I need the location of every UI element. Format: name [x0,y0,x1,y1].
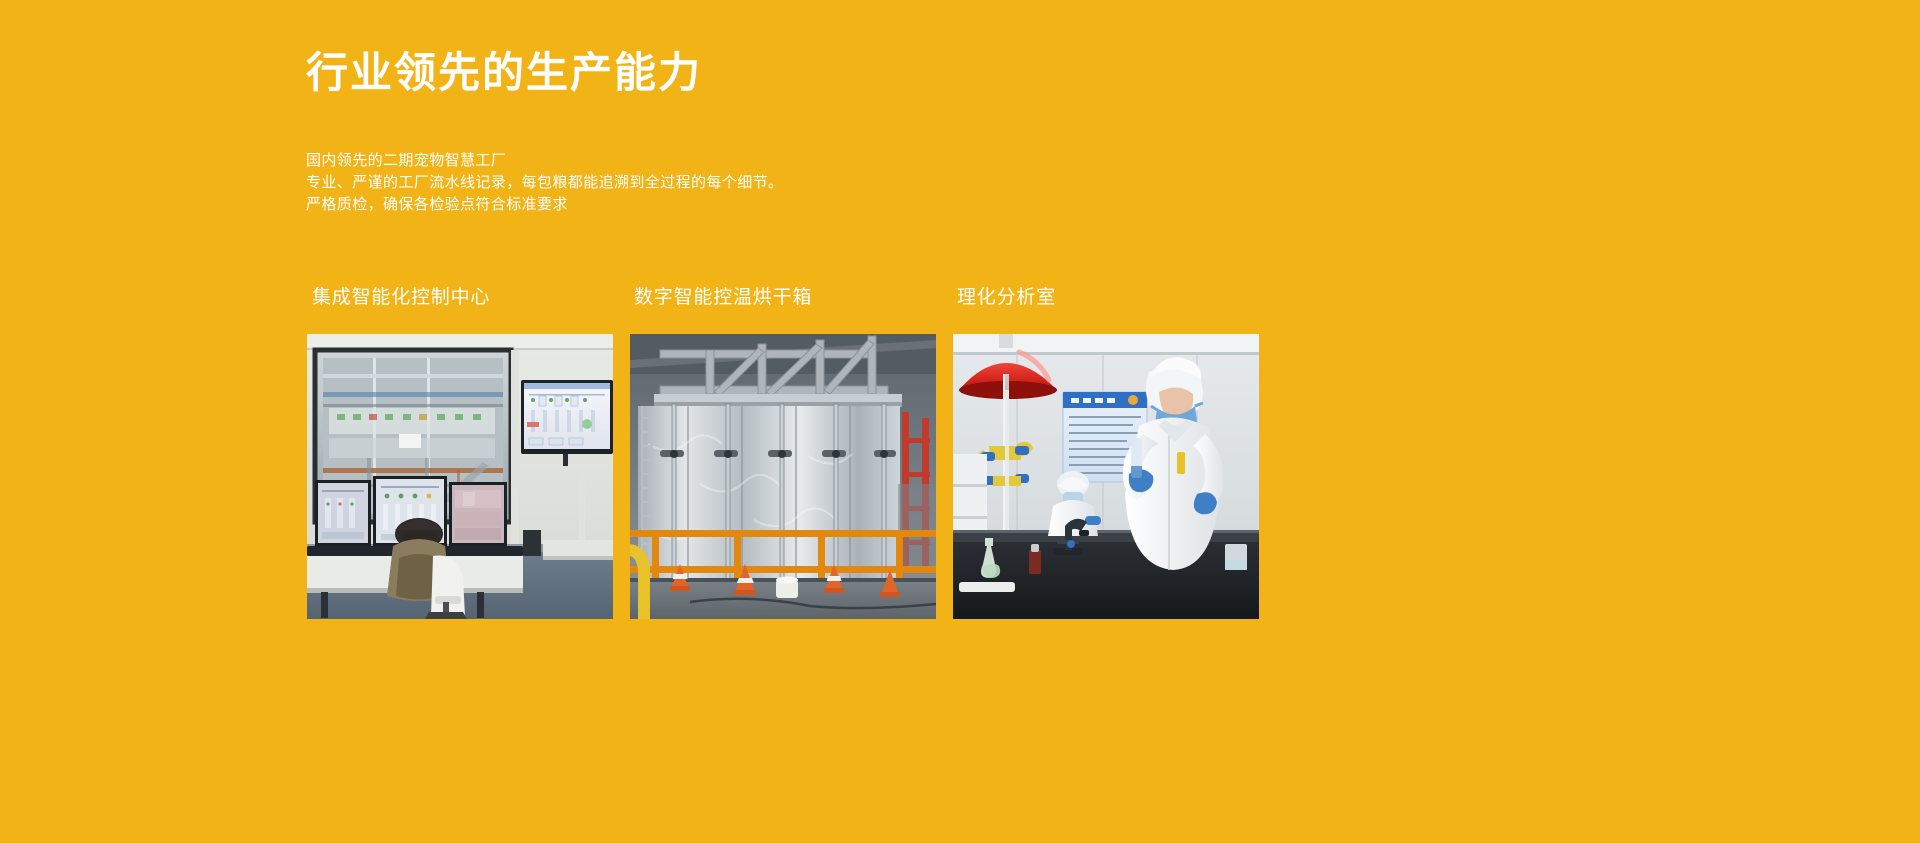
gallery-captions: 集成智能化控制中心 数字智能控温烘干箱 理化分析室 [0,284,1920,318]
description-line-2: 专业、严谨的工厂流水线记录，每包粮都能追溯到全过程的每个细节。 [306,172,783,194]
description-line-3: 严格质检，确保各检验点符合标准要求 [306,194,783,216]
gallery-caption-3: 理化分析室 [957,284,1056,312]
drying-oven-photo [630,334,936,619]
gallery-caption-2: 数字智能控温烘干箱 [634,284,812,312]
gallery-image-lab[interactable] [953,334,1259,619]
gallery-images [0,334,1920,619]
gallery-caption-1: 集成智能化控制中心 [312,284,490,312]
page-title: 行业领先的生产能力 [306,48,702,98]
control-center-photo [307,334,613,619]
lab-photo [953,334,1259,619]
production-capability-section: 行业领先的生产能力 国内领先的二期宠物智慧工厂 专业、严谨的工厂流水线记录，每包… [0,0,1920,843]
description-line-1: 国内领先的二期宠物智慧工厂 [306,150,783,172]
gallery-image-control-center[interactable] [307,334,613,619]
section-description: 国内领先的二期宠物智慧工厂 专业、严谨的工厂流水线记录，每包粮都能追溯到全过程的… [306,150,783,216]
gallery-image-drying-oven[interactable] [630,334,936,619]
